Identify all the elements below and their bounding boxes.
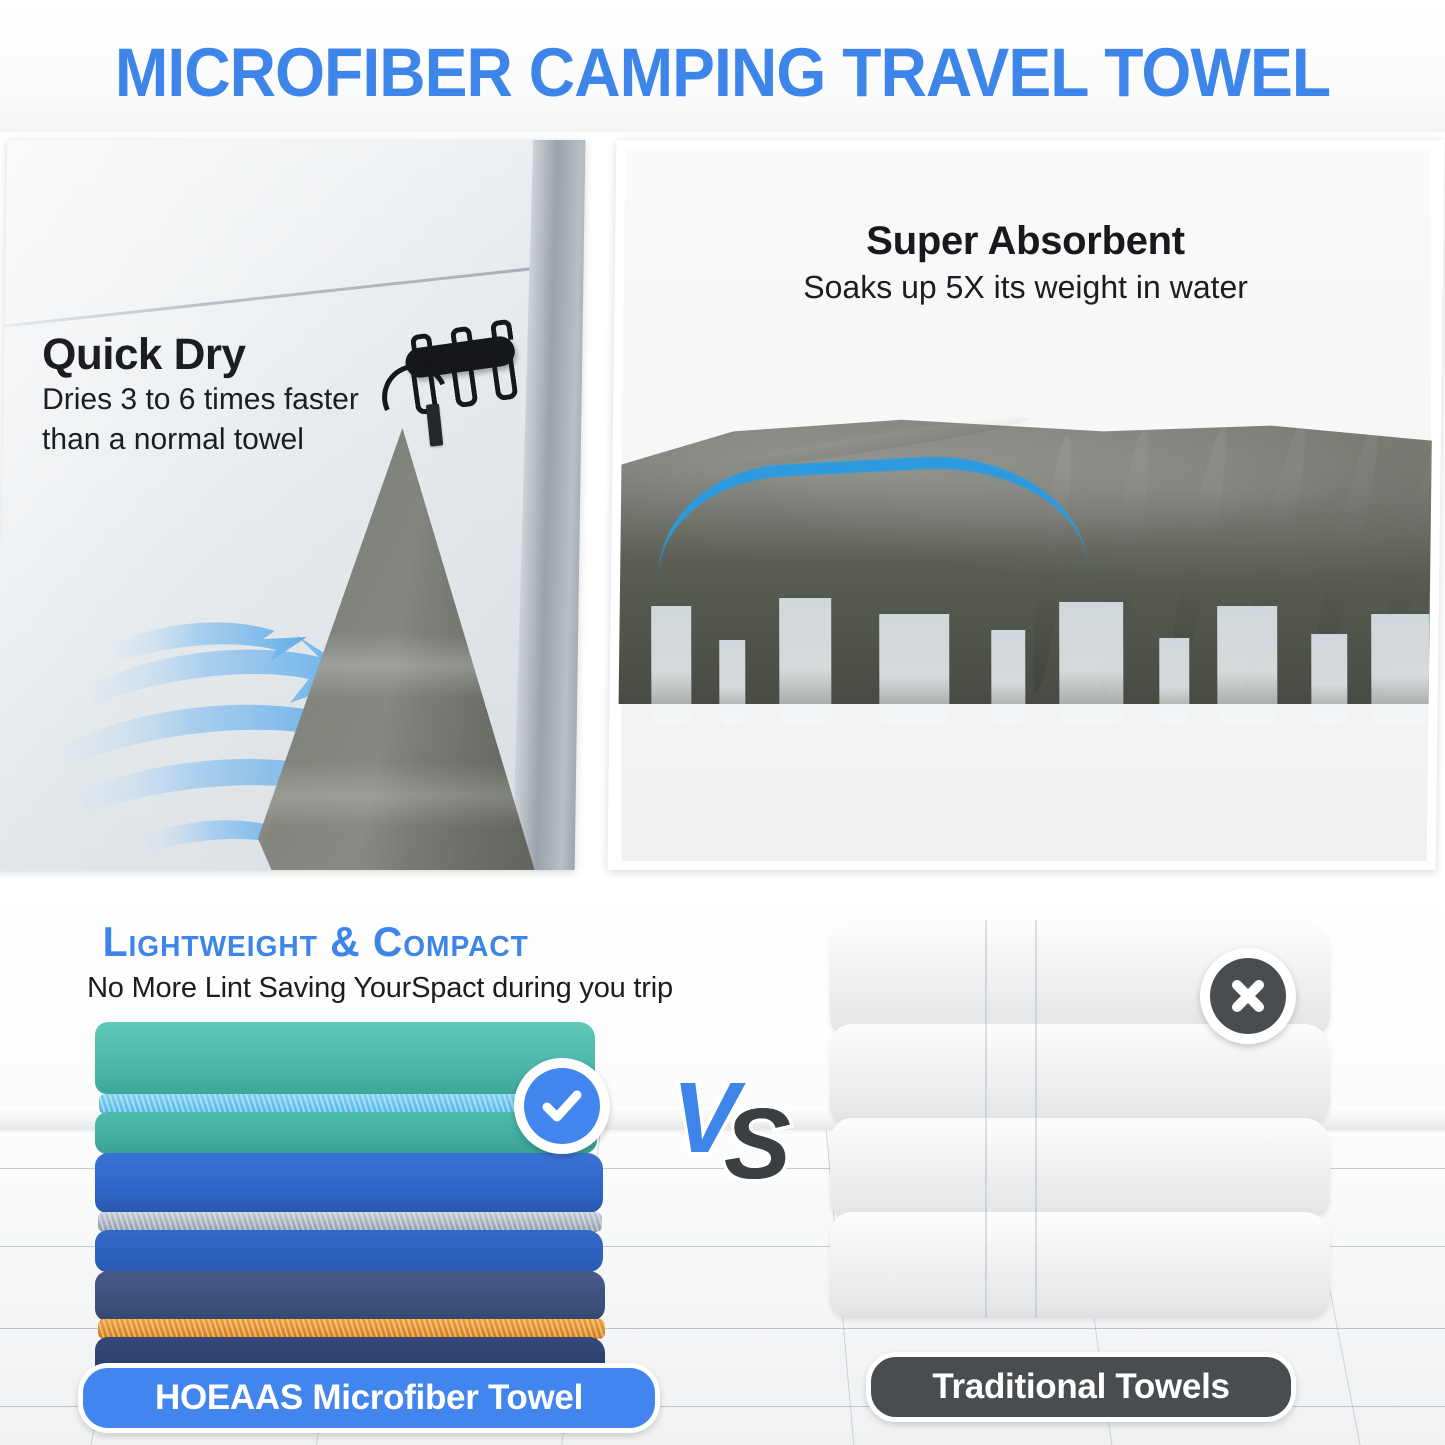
list-item [95, 1271, 605, 1321]
check-badge [514, 1058, 610, 1154]
traditional-towel-label: Traditional Towels [866, 1352, 1296, 1422]
product-infographic: MICROFIBER CAMPING TRAVEL TOWEL [0, 0, 1445, 1445]
quick-dry-heading: Quick Dry [42, 330, 245, 380]
hook-tip-1 [410, 333, 434, 357]
list-item [95, 1153, 603, 1213]
vs-letter-s: S [724, 1094, 791, 1194]
lightweight-subtext: No More Lint Saving YourSpact during you… [60, 972, 700, 1005]
hook-tip-2 [450, 326, 474, 350]
lightweight-heading: Lightweight & Compact [103, 918, 529, 966]
list-item [830, 1212, 1330, 1318]
vs-badge: V V S S [672, 1068, 807, 1198]
list-item [95, 1230, 603, 1272]
microfiber-towel-label: HOEAAS Microfiber Towel [78, 1363, 660, 1433]
wet-twisted-towel [611, 394, 1445, 724]
quick-dry-panel: Quick Dry Dries 3 to 6 times faster than… [0, 140, 585, 870]
water-drip-7 [1159, 638, 1189, 726]
cross-badge [1200, 948, 1296, 1044]
water-drip-3 [779, 598, 831, 726]
hook-tip-3 [490, 319, 514, 343]
list-item [830, 1118, 1330, 1218]
towel-trim [98, 1212, 602, 1232]
x-icon [1210, 958, 1286, 1034]
water-drip-5 [991, 630, 1025, 726]
water-drip-6 [1059, 602, 1123, 726]
water-drip-2 [719, 640, 745, 726]
super-absorbent-heading: Super Absorbent [621, 219, 1431, 264]
quick-dry-subtext-line2: than a normal towel [42, 423, 304, 456]
check-icon [524, 1068, 600, 1144]
towel-trim [98, 1319, 605, 1339]
header-band: MICROFIBER CAMPING TRAVEL TOWEL [0, 0, 1445, 132]
super-absorbent-subtext: Soaks up 5X its weight in water [621, 269, 1431, 306]
wall-hook-rack-icon [377, 308, 542, 428]
super-absorbent-panel: Super Absorbent Soaks up 5X its weight i… [608, 140, 1445, 870]
water-drip-8 [1217, 606, 1277, 726]
water-drip-9 [1311, 634, 1347, 726]
water-drip-1 [651, 606, 691, 726]
page-title: MICROFIBER CAMPING TRAVEL TOWEL [51, 36, 1395, 110]
water-drip-10 [1371, 614, 1429, 726]
quick-dry-subtext: Dries 3 to 6 times faster than a normal … [42, 380, 387, 460]
quick-dry-subtext-line1: Dries 3 to 6 times faster [42, 383, 359, 416]
water-drip-4 [879, 614, 949, 726]
